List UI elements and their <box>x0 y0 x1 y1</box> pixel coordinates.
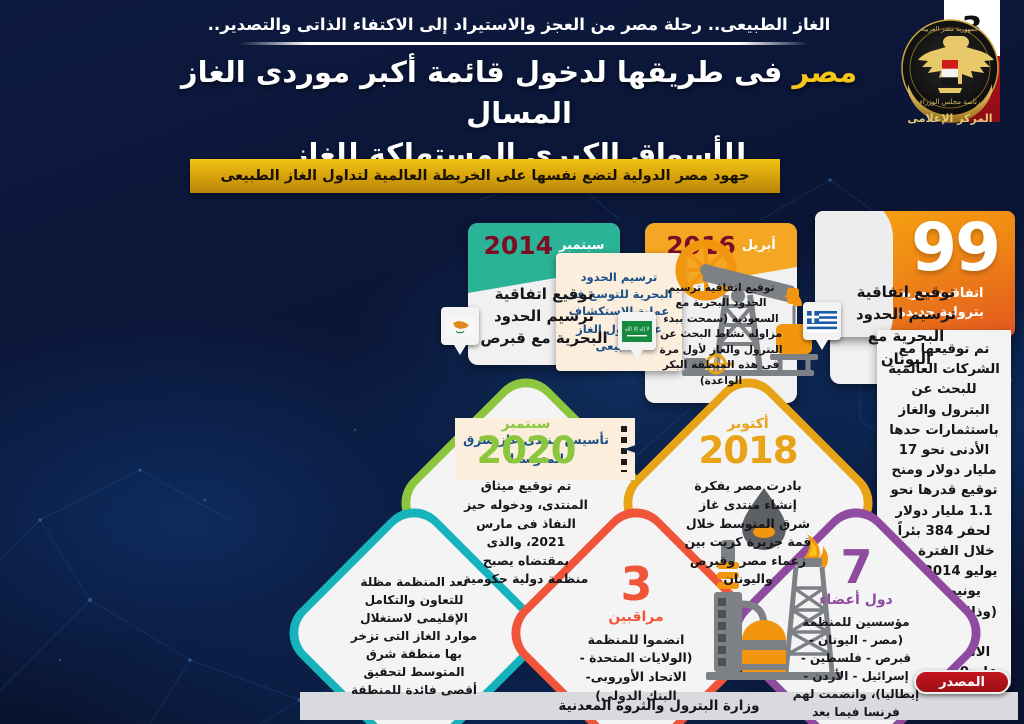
timeline-text: توقيع اتفاقية ترسيم الحدود البحرية مع ال… <box>655 281 787 389</box>
cyprus-flag-icon <box>441 307 479 353</box>
diamond-regional-umbrella: تعد المنظمة مظلة للتعاون والتكامل الإقلي… <box>316 535 512 724</box>
timeline-card-body: توقيع اتفاقية ترسيم الحدود البحرية مع ال… <box>830 267 982 384</box>
observers-count: 3 <box>621 561 652 607</box>
cabinet-media-center-logo: جمهورية مصر العربية رئاسة مجلس الوزراء ا… <box>884 6 1016 138</box>
page-title: مصر فى طريقها لدخول قائمة أكبر موردى الغ… <box>164 52 874 176</box>
greece-flag-icon <box>803 302 841 348</box>
timeline-card-2014: سبتمبر 2014 توقيع اتفاقية ترسيم الحدود ا… <box>468 223 620 365</box>
diamond-observers: 3 مراقبين انضموا للمنظمة (الولايات المتح… <box>538 535 734 724</box>
members-count: 7 <box>841 544 872 590</box>
observers-label: مراقبين <box>608 609 663 625</box>
diamond-year: 2020 <box>477 432 576 471</box>
diamond-content: 7 دول أعضاء مؤسسين للمنظمة (مصر - اليونا… <box>758 535 954 724</box>
headline-highlight: مصر <box>793 55 858 89</box>
diamond-text: مؤسسين للمنظمة (مصر - اليونان - قبرص - ف… <box>792 614 920 721</box>
timeline-card-body: توقيع اتفاقية ترسيم الحدود البحرية مع قب… <box>468 267 620 365</box>
diamond-content: 3 مراقبين انضموا للمنظمة (الولايات المتح… <box>538 535 734 724</box>
members-label: دول أعضاء <box>819 592 892 608</box>
diamond-text: تعد المنظمة مظلة للتعاون والتكامل الإقلي… <box>346 573 482 700</box>
diamond-year: 2018 <box>699 432 798 471</box>
infographic-page: 3 7 <box>0 0 1024 724</box>
header-kicker: الغاز الطبيعى.. رحلة مصر من العجز والاست… <box>174 10 864 40</box>
timeline-card-body: توقيع اتفاقية ترسيم الحدود البحرية مع ال… <box>645 267 797 403</box>
timeline-text: توقيع اتفاقية ترسيم الحدود البحرية مع قب… <box>478 283 610 350</box>
header: 3 7 <box>0 0 1024 150</box>
headline-line-1: مصر فى طريقها لدخول قائمة أكبر موردى الغ… <box>164 52 874 134</box>
svg-text:لا إله إلا الله: لا إله إلا الله <box>625 326 650 332</box>
timeline-text: توقيع اتفاقية ترسيم الحدود البحرية مع ال… <box>840 281 972 370</box>
diamond-member-states: 7 دول أعضاء مؤسسين للمنظمة (مصر - اليونا… <box>758 535 954 724</box>
svg-text:رئاسة مجلس الوزراء: رئاسة مجلس الوزراء <box>920 98 981 106</box>
diamond-content: تعد المنظمة مظلة للتعاون والتكامل الإقلي… <box>316 535 512 724</box>
headline-rest: فى طريقها لدخول قائمة أكبر موردى الغاز ا… <box>181 55 793 130</box>
header-divider <box>239 42 809 45</box>
subtitle-banner: جهود مصر الدولية لتضع نفسها على الخريطة … <box>190 159 780 193</box>
source-pill: المصدر <box>914 670 1010 694</box>
saudi-flag-icon: لا إله إلا الله <box>618 312 656 358</box>
svg-text:جمهورية مصر العربية: جمهورية مصر العربية <box>921 25 978 33</box>
timeline-year: 2014 <box>483 233 553 258</box>
timeline-month: سبتمبر <box>559 238 605 253</box>
svg-text:المركز الإعلامى: المركز الإعلامى <box>908 112 993 125</box>
diamond-text: انضموا للمنظمة (الولايات المتحدة - الاتح… <box>572 631 700 705</box>
